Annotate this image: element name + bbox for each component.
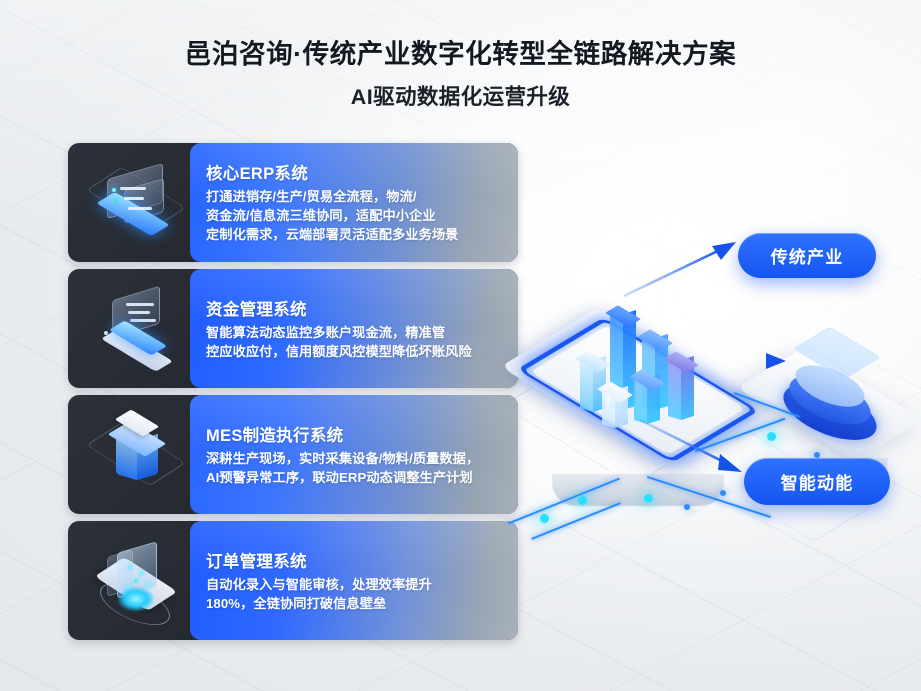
card-title: 核心ERP系统 <box>206 160 508 184</box>
chart-bar <box>602 386 628 424</box>
card-description: 深耕生产现场，实时采集设备/物料/质量数据，AI预警异常工序，联动ERP动态调整… <box>206 450 508 487</box>
circuit-node <box>684 504 690 510</box>
circuit-node <box>767 432 776 441</box>
circuit-node <box>540 514 549 523</box>
mes-glass-cube-icon <box>90 409 182 501</box>
circuit-node <box>720 490 726 496</box>
order-hologram-panel-icon <box>90 535 182 627</box>
fund-laptop-layers-icon <box>90 283 182 375</box>
erp-document-stack-icon <box>90 157 182 249</box>
card-title: 订单管理系统 <box>206 548 508 572</box>
circuit-node <box>578 496 587 505</box>
card-title: MES制造执行系统 <box>206 422 508 446</box>
arrow-to-traditional-industry <box>620 232 750 302</box>
card-description: 自动化录入与智能审核，处理效率提升180%，全链协同打破信息壁垒 <box>206 576 508 613</box>
arrow-to-intelligent-momentum <box>636 414 756 486</box>
solution-card-mes[interactable]: MES制造执行系统 深耕生产现场，实时采集设备/物料/质量数据，AI预警异常工序… <box>68 395 518 514</box>
slide-canvas: 邑泊咨询·传统产业数字化转型全链路解决方案 AI驱动数据化运营升级 核心ERP系… <box>0 0 921 691</box>
card-text: 核心ERP系统 打通进销存/生产/贸易全流程，物流/资金流/信息流三维协同，适配… <box>206 143 508 262</box>
page-title: 邑泊咨询·传统产业数字化转型全链路解决方案 <box>0 38 921 71</box>
badge-intelligent-momentum[interactable]: 智能动能 <box>744 458 890 505</box>
page-subtitle: AI驱动数据化运营升级 <box>0 80 921 111</box>
card-description: 打通进销存/生产/贸易全流程，物流/资金流/信息流三维协同，适配中小企业定制化需… <box>206 188 508 244</box>
card-description: 智能算法动态监控多账户现金流，精准管控应收应付，信用额度风控模型降低坏账风险 <box>206 324 508 361</box>
solution-card-erp[interactable]: 核心ERP系统 打通进销存/生产/贸易全流程，物流/资金流/信息流三维协同，适配… <box>68 143 518 262</box>
solution-card-order[interactable]: 订单管理系统 自动化录入与智能审核，处理效率提升180%，全链协同打破信息壁垒 <box>68 521 518 640</box>
solution-card-list: 核心ERP系统 打通进销存/生产/贸易全流程，物流/资金流/信息流三维协同，适配… <box>68 143 518 647</box>
solution-card-fund[interactable]: 资金管理系统 智能算法动态监控多账户现金流，精准管控应收应付，信用额度风控模型降… <box>68 269 518 388</box>
card-text: 资金管理系统 智能算法动态监控多账户现金流，精准管控应收应付，信用额度风控模型降… <box>206 269 508 388</box>
badge-label: 智能动能 <box>781 469 854 494</box>
card-title: 资金管理系统 <box>206 296 508 320</box>
card-text: MES制造执行系统 深耕生产现场，实时采集设备/物料/质量数据，AI预警异常工序… <box>206 395 508 514</box>
badge-label: 传统产业 <box>771 243 844 268</box>
chart-bar <box>668 356 694 416</box>
arrow-to-disc-platform <box>700 348 796 374</box>
header-block: 邑泊咨询·传统产业数字化转型全链路解决方案 AI驱动数据化运营升级 <box>0 38 921 111</box>
circuit-node <box>644 494 653 503</box>
card-text: 订单管理系统 自动化录入与智能审核，处理效率提升180%，全链协同打破信息壁垒 <box>206 521 508 640</box>
badge-traditional-industry[interactable]: 传统产业 <box>738 233 876 278</box>
